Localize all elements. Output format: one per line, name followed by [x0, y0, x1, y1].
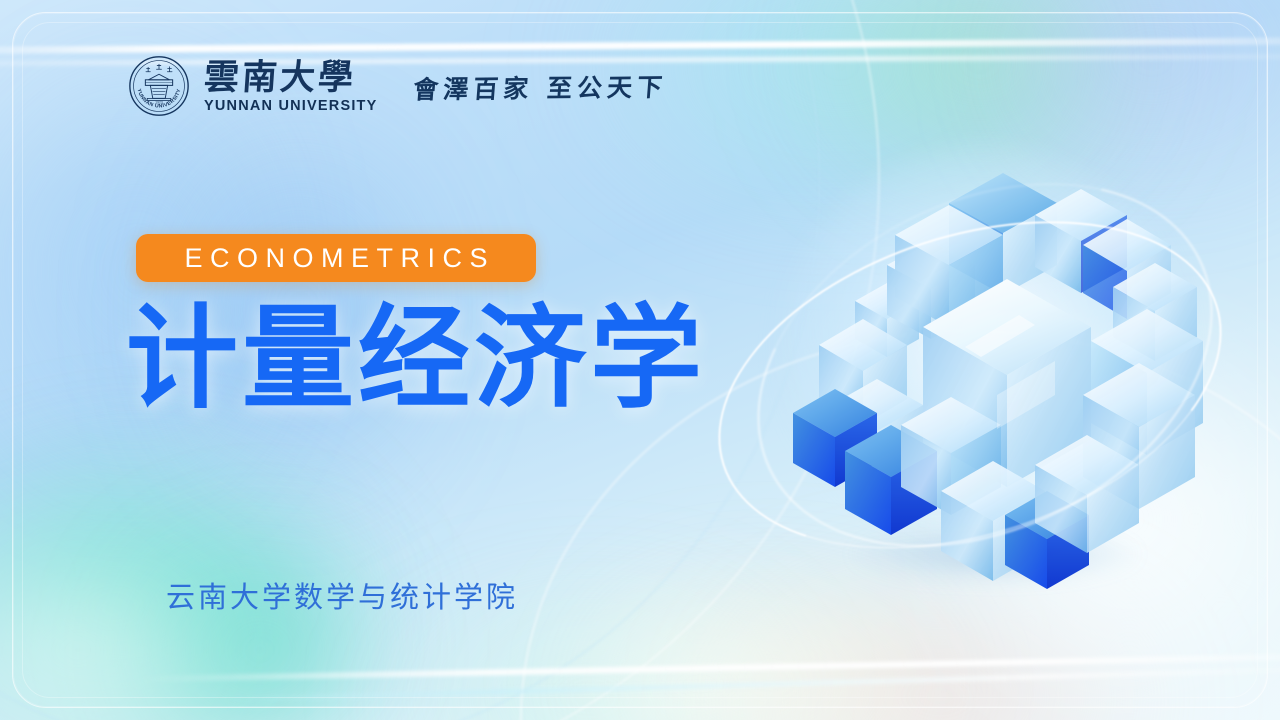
page-title: 计量经济学: [126, 296, 706, 424]
university-motto: 會澤百家 至公天下: [412, 68, 670, 119]
glass-cube-cluster-illustration: [735, 95, 1235, 615]
university-name-cn: 雲南大學: [203, 60, 379, 97]
svg-text:1923: 1923: [155, 100, 163, 104]
crest-svg: YUNNAN UNIVERSITY 1923: [128, 55, 190, 117]
yunnan-university-crest-icon: YUNNAN UNIVERSITY 1923: [128, 55, 190, 117]
university-name-en: YUNNAN UNIVERSITY: [204, 99, 377, 114]
course-subject-badge: ECONOMETRICS: [136, 234, 536, 282]
department-subtitle: 云南大学数学与统计学院: [166, 574, 518, 616]
cube-cluster-svg: [735, 95, 1235, 615]
university-logo-bar: YUNNAN UNIVERSITY 1923 雲南大學 YUNNAN UNIVE…: [128, 55, 667, 117]
title-slide: YUNNAN UNIVERSITY 1923 雲南大學 YUNNAN UNIVE…: [0, 0, 1280, 720]
university-wordmark: 雲南大學 YUNNAN UNIVERSITY: [204, 58, 377, 113]
